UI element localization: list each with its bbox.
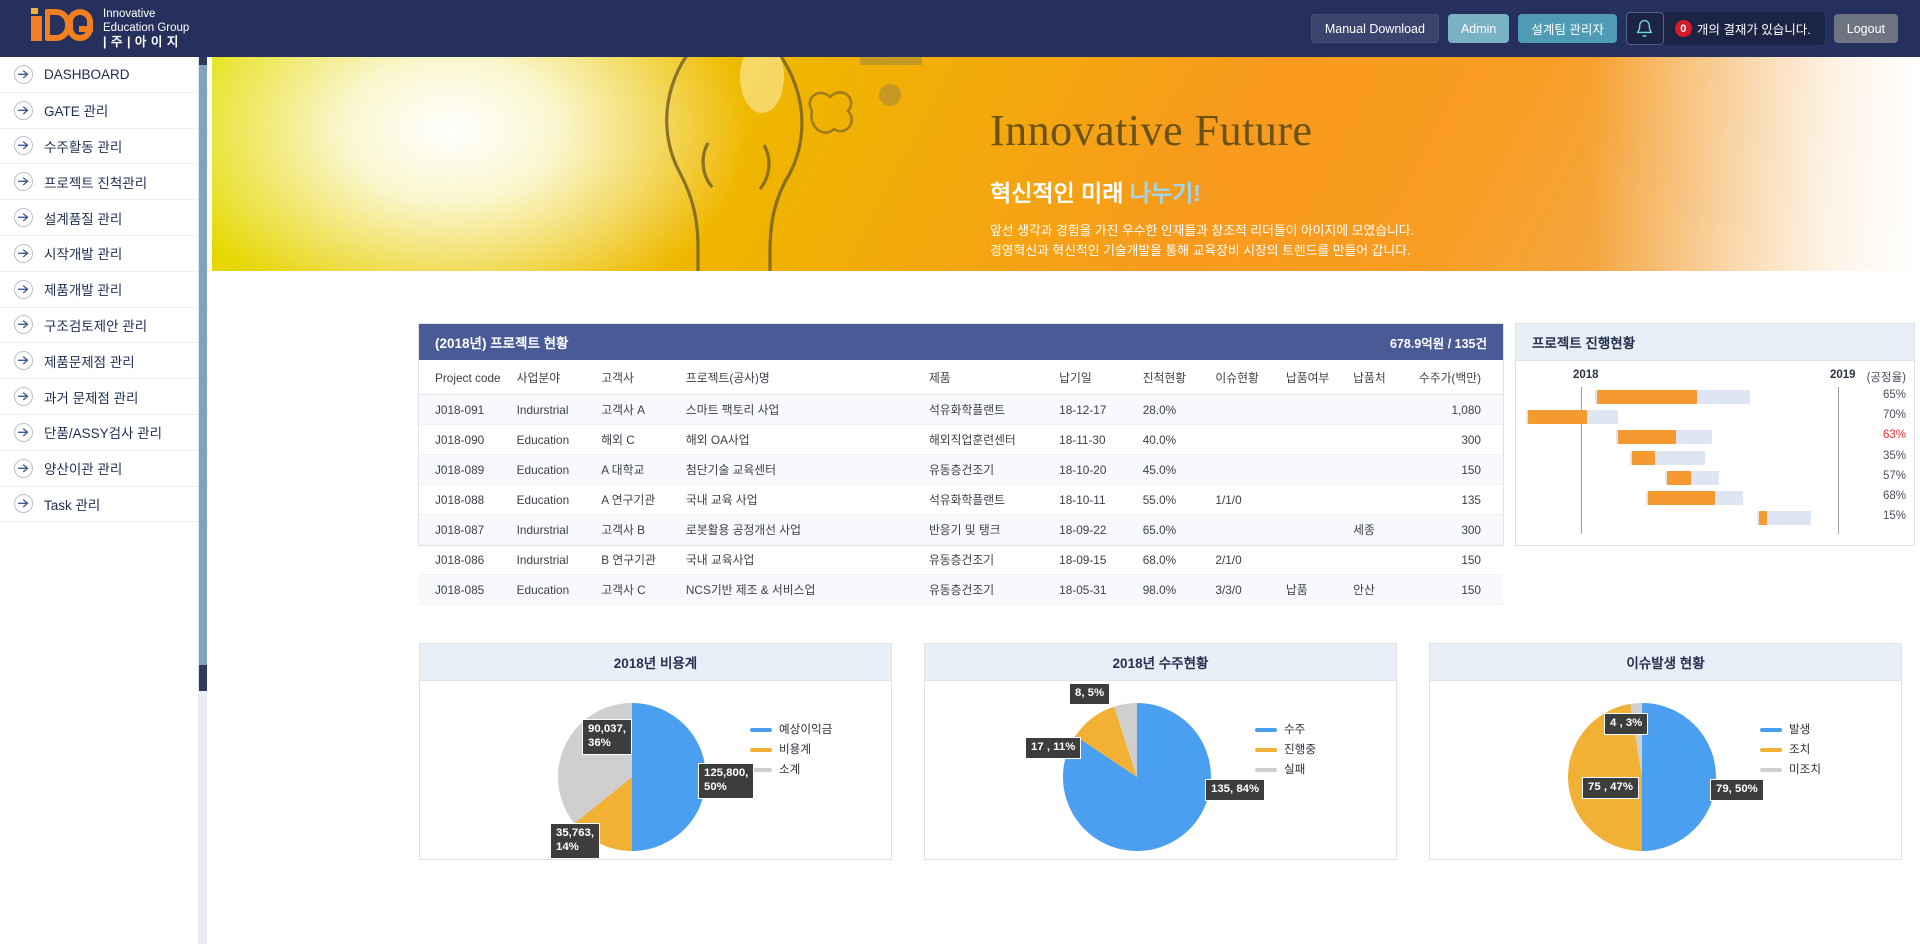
logo-line-3: | 주 | 아 이 지: [103, 35, 189, 50]
pie-data-label: 8, 5%: [1069, 683, 1110, 705]
cell-project: 첨단기술 교육센터: [686, 455, 929, 485]
col-header-price[interactable]: 수주가(백만): [1416, 360, 1503, 395]
cell-progress: 28.0%: [1143, 395, 1216, 425]
pie-data-label: 75 , 47%: [1582, 777, 1639, 799]
pie-slice-0[interactable]: [1642, 703, 1716, 851]
cell-place: 안산: [1353, 575, 1416, 605]
cell-due: 18-11-30: [1059, 425, 1143, 455]
cell-product: 유동층건조기: [929, 455, 1059, 485]
sidebar-item-1[interactable]: GATE 관리: [0, 93, 198, 129]
project-table-body: J018-091Indurstrial고객사 A스마트 팩토리 사업석유화학플랜…: [419, 395, 1503, 605]
cell-delivered: [1286, 545, 1353, 575]
cell-field: Education: [517, 575, 602, 605]
col-header-progress[interactable]: 진척현황: [1143, 360, 1216, 395]
cost-pie-body: 예상이익금비용계소계125,800, 50%35,763, 14%90,037,…: [420, 681, 891, 860]
gantt-progress-fill: [1667, 471, 1691, 485]
table-row[interactable]: J018-086IndurstrialB 연구기관국내 교육사업유동층건조기18…: [419, 545, 1503, 575]
app-logo[interactable]: Innovative Education Group | 주 | 아 이 지: [31, 7, 189, 50]
legend-label: 진행중: [1284, 740, 1316, 760]
project-panel-header: (2018년) 프로젝트 현황 678.9억원 / 135건: [419, 324, 1503, 360]
gantt-progress-label: 63%: [1883, 429, 1906, 441]
gantt-row[interactable]: 63%: [1516, 427, 1914, 447]
sidebar-item-label: 제품개발 관리: [44, 279, 122, 299]
gantt-chart: 2018 2019 (공정율) 65%70%63%35%57%68%15%: [1516, 361, 1914, 546]
sidebar-item-4[interactable]: 설계품질 관리: [0, 200, 198, 236]
cell-delivered: [1286, 485, 1353, 515]
cell-price: 300: [1416, 425, 1503, 455]
project-status-panel: (2018년) 프로젝트 현황 678.9억원 / 135건 Project c…: [418, 323, 1504, 546]
cell-progress: 40.0%: [1143, 425, 1216, 455]
cell-due: 18-09-15: [1059, 545, 1143, 575]
gantt-panel-title: 프로젝트 진행현황: [1532, 332, 1635, 352]
table-row[interactable]: J018-087Indurstrial고객사 B로봇활용 공정개선 사업반응기 …: [419, 515, 1503, 545]
notification-area: 0 개의 결재가 있습니다.: [1626, 12, 1825, 45]
legend-swatch: [1760, 748, 1782, 752]
pie-data-label: 79, 50%: [1710, 779, 1764, 801]
cell-progress: 45.0%: [1143, 455, 1216, 485]
legend-item[interactable]: 수주: [1255, 720, 1316, 740]
cost-pie-panel: 2018년 비용계 예상이익금비용계소계125,800, 50%35,763, …: [419, 643, 892, 860]
cell-delivered: [1286, 455, 1353, 485]
col-header-customer[interactable]: 고객사: [601, 360, 686, 395]
gantt-row[interactable]: 35%: [1516, 448, 1914, 468]
pie-data-label: 90,037, 36%: [582, 719, 632, 755]
project-panel-summary: 678.9억원 / 135건: [1390, 333, 1487, 352]
banner-body-line-1: 앞선 생각과 경험을 가진 우수한 인재들과 창조적 리더들이 아이지에 모였습…: [990, 221, 1414, 241]
sidebar-item-8[interactable]: 제품문제점 관리: [0, 343, 198, 379]
cell-project: 국내 교육 사업: [686, 485, 929, 515]
pie-legend: 예상이익금비용계소계: [750, 720, 832, 780]
legend-item[interactable]: 조치: [1760, 740, 1821, 760]
pie-data-label: 125,800, 50%: [698, 763, 754, 799]
pie-legend: 발생조치미조치: [1760, 720, 1821, 780]
arrow-right-icon: [14, 351, 33, 370]
sidebar-item-3[interactable]: 프로젝트 진척관리: [0, 164, 198, 200]
cell-customer: A 연구기관: [601, 485, 686, 515]
legend-label: 미조치: [1789, 760, 1821, 780]
sidebar-item-label: 과거 문제점 관리: [44, 387, 138, 407]
cell-due: 18-10-20: [1059, 455, 1143, 485]
legend-item[interactable]: 예상이익금: [750, 720, 832, 740]
cell-due: 18-12-17: [1059, 395, 1143, 425]
cell-code: J018-090: [419, 425, 517, 455]
approval-notice[interactable]: 0 개의 결재가 있습니다.: [1664, 19, 1825, 38]
cell-field: Indurstrial: [517, 515, 602, 545]
cell-project: 해외 OA사업: [686, 425, 929, 455]
hero-banner: Innovative Future 혁신적인 미래 나누기! 앞선 생각과 경험…: [212, 57, 1920, 271]
col-header-project[interactable]: 프로젝트(공사)명: [686, 360, 929, 395]
sidebar-scrollbar[interactable]: [199, 57, 207, 944]
gantt-panel-header: 프로젝트 진행현황: [1516, 324, 1914, 361]
sidebar-item-label: 제품문제점 관리: [44, 351, 135, 371]
sidebar-item-label: 양산이관 관리: [44, 458, 122, 478]
gantt-axis-rate-label: (공정율): [1867, 369, 1906, 385]
pie-data-label: 17 , 11%: [1025, 737, 1081, 759]
project-progress-panel: 프로젝트 진행현황 2018 2019 (공정율) 65%70%63%35%57…: [1515, 323, 1915, 546]
cell-project: 국내 교육사업: [686, 545, 929, 575]
sidebar-item-7[interactable]: 구조검토제안 관리: [0, 308, 198, 344]
legend-swatch: [1760, 728, 1782, 732]
col-header-due[interactable]: 납기일: [1059, 360, 1143, 395]
legend-item[interactable]: 소계: [750, 760, 832, 780]
legend-label: 예상이익금: [779, 720, 832, 740]
cell-code: J018-091: [419, 395, 517, 425]
cell-due: 18-05-31: [1059, 575, 1143, 605]
cell-field: Education: [517, 485, 602, 515]
gantt-axis-year-right: 2019: [1830, 369, 1856, 381]
legend-label: 실패: [1284, 760, 1305, 780]
design-team-manager-button[interactable]: 설계팀 관리자: [1518, 14, 1616, 43]
cell-issue: [1215, 515, 1286, 545]
cell-price: 1,080: [1416, 395, 1503, 425]
gantt-progress-fill: [1618, 430, 1676, 444]
cell-place: [1353, 425, 1416, 455]
col-header-product[interactable]: 제품: [929, 360, 1059, 395]
table-row[interactable]: J018-089EducationA 대학교첨단기술 교육센터유동층건조기18-…: [419, 455, 1503, 485]
order-pie-title: 2018년 수주현황: [1113, 652, 1209, 672]
arrow-right-icon: [14, 494, 33, 513]
gantt-progress-fill: [1632, 451, 1656, 465]
gantt-progress-fill: [1528, 410, 1587, 424]
gantt-progress-fill: [1759, 511, 1767, 525]
main-sidebar: DASHBOARDGATE 관리수주활동 관리프로젝트 진척관리설계품질 관리시…: [0, 57, 199, 944]
cell-field: Education: [517, 425, 602, 455]
cost-pie-title-bar: 2018년 비용계: [420, 644, 891, 681]
pie-data-label: 4 , 3%: [1604, 713, 1648, 735]
idg-logo-icon: [31, 7, 93, 41]
sidebar-item-2[interactable]: 수주활동 관리: [0, 129, 198, 165]
gantt-progress-label: 65%: [1883, 389, 1906, 401]
logo-wordmark: Innovative Education Group | 주 | 아 이 지: [103, 7, 189, 50]
cell-customer: B 연구기관: [601, 545, 686, 575]
cell-place: [1353, 485, 1416, 515]
cell-price: 300: [1416, 515, 1503, 545]
gantt-row[interactable]: 65%: [1516, 387, 1914, 407]
arrow-right-icon: [14, 208, 33, 227]
col-header-delivered[interactable]: 납품여부: [1286, 360, 1353, 395]
legend-swatch: [1255, 768, 1277, 772]
pie-data-label: 35,763, 14%: [550, 823, 600, 859]
banner-subtitle-white: 혁신적인 미래: [990, 180, 1130, 206]
gantt-progress-fill: [1597, 390, 1697, 404]
cell-issue: [1215, 425, 1286, 455]
cell-price: 150: [1416, 455, 1503, 485]
legend-label: 발생: [1789, 720, 1810, 740]
manual-download-button[interactable]: Manual Download: [1311, 14, 1439, 43]
table-row[interactable]: J018-085Education고객사 CNCS기반 제조 & 서비스업유동층…: [419, 575, 1503, 605]
cell-customer: 고객사 A: [601, 395, 686, 425]
sidebar-item-11[interactable]: 양산이관 관리: [0, 451, 198, 487]
arrow-right-icon: [14, 423, 33, 442]
arrow-right-icon: [14, 459, 33, 478]
cell-progress: 68.0%: [1143, 545, 1216, 575]
cell-issue: 1/1/0: [1215, 485, 1286, 515]
arrow-right-icon: [14, 136, 33, 155]
project-panel-title: (2018년) 프로젝트 현황: [435, 332, 568, 352]
table-row[interactable]: J018-088EducationA 연구기관국내 교육 사업석유화학플랜트18…: [419, 485, 1503, 515]
cell-place: [1353, 395, 1416, 425]
gantt-axis-year-left: 2018: [1573, 369, 1599, 381]
pie-legend: 수주진행중실패: [1255, 720, 1316, 780]
legend-swatch: [750, 728, 772, 732]
cell-code: J018-086: [419, 545, 517, 575]
header-actions: Manual Download Admin 설계팀 관리자 0 개의 결재가 있…: [1311, 12, 1898, 45]
sidebar-scrollbar-thumb[interactable]: [199, 57, 207, 665]
logout-button[interactable]: Logout: [1834, 14, 1898, 43]
gantt-progress-label: 57%: [1883, 470, 1906, 482]
cell-project: 로봇활용 공정개선 사업: [686, 515, 929, 545]
issue-pie-panel: 이슈발생 현황 발생조치미조치79, 50%75 , 47%4 , 3%: [1429, 643, 1902, 860]
logo-line-2: Education Group: [103, 22, 189, 36]
gantt-axis: 2018 2019 (공정율): [1516, 361, 1914, 387]
cell-price: 150: [1416, 545, 1503, 575]
cell-delivered: [1286, 425, 1353, 455]
cell-issue: 2/1/0: [1215, 545, 1286, 575]
col-header-code[interactable]: Project code: [419, 360, 517, 395]
gantt-row[interactable]: 57%: [1516, 468, 1914, 488]
gantt-rows: 65%70%63%35%57%68%15%: [1516, 387, 1914, 528]
cell-field: Indurstrial: [517, 545, 602, 575]
sidebar-item-0[interactable]: DASHBOARD: [0, 57, 198, 93]
project-table: Project code사업분야고객사프로젝트(공사)명제품납기일진척현황이슈현…: [419, 360, 1503, 605]
banner-body-line-2: 경영혁신과 혁신적인 기술개발을 통해 교육장비 시장의 트렌드를 만들어 갑니…: [990, 241, 1414, 261]
cell-issue: [1215, 395, 1286, 425]
gantt-progress-fill: [1648, 491, 1715, 505]
legend-swatch: [1255, 748, 1277, 752]
order-pie-panel: 2018년 수주현황 수주진행중실패135, 84%17 , 11%8, 5%: [924, 643, 1397, 860]
cell-code: J018-085: [419, 575, 517, 605]
legend-item[interactable]: 실패: [1255, 760, 1316, 780]
cell-issue: 3/3/0: [1215, 575, 1286, 605]
order-pie-body: 수주진행중실패135, 84%17 , 11%8, 5%: [925, 681, 1396, 860]
table-row[interactable]: J018-090Education해외 C해외 OA사업해외직업훈련센터18-1…: [419, 425, 1503, 455]
cell-project: 스마트 팩토리 사업: [686, 395, 929, 425]
cell-delivered: [1286, 395, 1353, 425]
legend-label: 비용계: [779, 740, 811, 760]
arrow-right-icon: [14, 280, 33, 299]
cell-product: 해외직업훈련센터: [929, 425, 1059, 455]
legend-item[interactable]: 진행중: [1255, 740, 1316, 760]
cell-due: 18-10-11: [1059, 485, 1143, 515]
cell-customer: 고객사 B: [601, 515, 686, 545]
cell-delivered: [1286, 515, 1353, 545]
sidebar-item-label: 프로젝트 진척관리: [44, 172, 147, 192]
cell-due: 18-09-22: [1059, 515, 1143, 545]
sidebar-item-label: 단품/ASSY검사 관리: [44, 422, 162, 442]
arrow-right-icon: [14, 101, 33, 120]
legend-swatch: [1760, 768, 1782, 772]
banner-subtitle: 혁신적인 미래 나누기!: [990, 174, 1414, 208]
gantt-progress-label: 70%: [1883, 409, 1906, 421]
cell-code: J018-089: [419, 455, 517, 485]
cell-place: [1353, 545, 1416, 575]
sidebar-item-label: GATE 관리: [44, 100, 108, 120]
cell-progress: 65.0%: [1143, 515, 1216, 545]
cost-pie-title: 2018년 비용계: [614, 652, 697, 672]
approval-notice-text: 개의 결재가 있습니다.: [1697, 19, 1811, 38]
legend-label: 수주: [1284, 720, 1305, 740]
sidebar-item-12[interactable]: Task 관리: [0, 487, 198, 523]
banner-title: Innovative Future: [990, 109, 1414, 153]
sidebar-item-label: 시작개발 관리: [44, 243, 122, 263]
cell-progress: 98.0%: [1143, 575, 1216, 605]
pie-data-label: 135, 84%: [1205, 779, 1265, 801]
banner-text-block: Innovative Future 혁신적인 미래 나누기! 앞선 생각과 경험…: [990, 109, 1414, 261]
arrow-right-icon: [14, 244, 33, 263]
cell-issue: [1215, 455, 1286, 485]
logo-line-1: Innovative: [103, 8, 189, 22]
cell-product: 유동층건조기: [929, 545, 1059, 575]
sidebar-item-label: DASHBOARD: [44, 67, 130, 82]
issue-pie-title: 이슈발생 현황: [1626, 652, 1704, 672]
cell-code: J018-087: [419, 515, 517, 545]
legend-swatch: [1255, 728, 1277, 732]
legend-item[interactable]: 발생: [1760, 720, 1821, 740]
gantt-row[interactable]: 70%: [1516, 407, 1914, 427]
gantt-progress-label: 15%: [1883, 510, 1906, 522]
gantt-progress-label: 68%: [1883, 490, 1906, 502]
admin-button[interactable]: Admin: [1448, 14, 1509, 43]
bell-icon[interactable]: [1626, 12, 1664, 45]
legend-label: 소계: [779, 760, 800, 780]
cell-customer: A 대학교: [601, 455, 686, 485]
cell-product: 유동층건조기: [929, 575, 1059, 605]
table-row[interactable]: J018-091Indurstrial고객사 A스마트 팩토리 사업석유화학플랜…: [419, 395, 1503, 425]
issue-pie-body: 발생조치미조치79, 50%75 , 47%4 , 3%: [1430, 681, 1901, 860]
project-table-header-row: Project code사업분야고객사프로젝트(공사)명제품납기일진척현황이슈현…: [419, 360, 1503, 395]
cell-project: NCS기반 제조 & 서비스업: [686, 575, 929, 605]
arrow-right-icon: [14, 315, 33, 334]
col-header-place[interactable]: 납품처: [1353, 360, 1416, 395]
lightbulb-illustration: [512, 57, 932, 271]
col-header-field[interactable]: 사업분야: [517, 360, 602, 395]
gantt-row[interactable]: 15%: [1516, 508, 1914, 528]
sidebar-item-5[interactable]: 시작개발 관리: [0, 236, 198, 272]
legend-item[interactable]: 미조치: [1760, 760, 1821, 780]
cell-customer: 해외 C: [601, 425, 686, 455]
sidebar-item-label: Task 관리: [44, 494, 100, 514]
cell-progress: 55.0%: [1143, 485, 1216, 515]
cell-place: [1353, 455, 1416, 485]
approval-count-badge: 0: [1675, 20, 1692, 37]
pie-slice-0[interactable]: [632, 703, 706, 851]
legend-swatch: [750, 748, 772, 752]
sidebar-item-9[interactable]: 과거 문제점 관리: [0, 379, 198, 415]
issue-pie-title-bar: 이슈발생 현황: [1430, 644, 1901, 681]
arrow-right-icon: [14, 65, 33, 84]
arrow-right-icon: [14, 172, 33, 191]
arrow-right-icon: [14, 387, 33, 406]
gantt-progress-label: 35%: [1883, 450, 1906, 462]
pie-chart-svg: [1037, 691, 1237, 859]
gantt-row[interactable]: 68%: [1516, 488, 1914, 508]
cell-field: Education: [517, 455, 602, 485]
cell-product: 석유화학플랜트: [929, 485, 1059, 515]
cell-price: 150: [1416, 575, 1503, 605]
cell-code: J018-088: [419, 485, 517, 515]
order-pie-title-bar: 2018년 수주현황: [925, 644, 1396, 681]
banner-body: 앞선 생각과 경험을 가진 우수한 인재들과 창조적 리더들이 아이지에 모였습…: [990, 221, 1414, 261]
cell-product: 석유화학플랜트: [929, 395, 1059, 425]
top-header-bar: Innovative Education Group | 주 | 아 이 지 M…: [0, 0, 1920, 57]
sidebar-item-10[interactable]: 단품/ASSY검사 관리: [0, 415, 198, 451]
legend-label: 조치: [1789, 740, 1810, 760]
cell-delivered: 납품: [1286, 575, 1353, 605]
cell-product: 반응기 및 탱크: [929, 515, 1059, 545]
cell-price: 135: [1416, 485, 1503, 515]
sidebar-item-label: 구조검토제안 관리: [44, 315, 147, 335]
col-header-issue[interactable]: 이슈현황: [1215, 360, 1286, 395]
cell-place: 세종: [1353, 515, 1416, 545]
sidebar-item-6[interactable]: 제품개발 관리: [0, 272, 198, 308]
sidebar-item-label: 설계품질 관리: [44, 208, 122, 228]
cell-field: Indurstrial: [517, 395, 602, 425]
sidebar-item-label: 수주활동 관리: [44, 136, 122, 156]
main-content: Innovative Future 혁신적인 미래 나누기! 앞선 생각과 경험…: [207, 57, 1920, 944]
banner-subtitle-accent: 나누기!: [1130, 180, 1201, 206]
legend-item[interactable]: 비용계: [750, 740, 832, 760]
cell-customer: 고객사 C: [601, 575, 686, 605]
